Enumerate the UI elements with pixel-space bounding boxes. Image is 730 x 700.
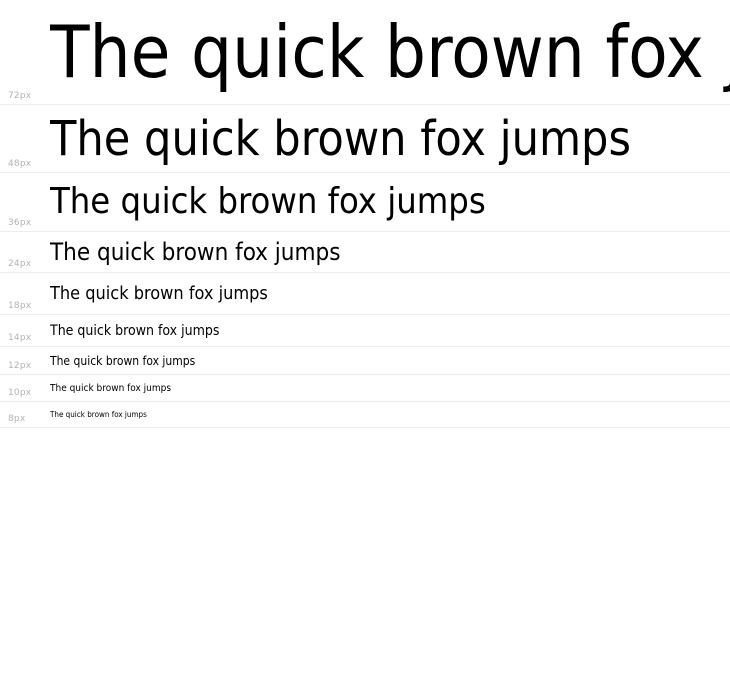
font-size-specimen: 72px The quick brown fox jumps 48px The … bbox=[0, 0, 730, 700]
specimen-row-10px: 10px The quick brown fox jumps bbox=[0, 375, 730, 402]
size-label-8px: 8px bbox=[8, 415, 25, 424]
empty-area bbox=[0, 428, 730, 690]
specimen-row-24px: 24px The quick brown fox jumps bbox=[0, 232, 730, 273]
sample-text-8px: The quick brown fox jumps bbox=[50, 402, 730, 428]
size-label-48px: 48px bbox=[8, 160, 31, 169]
sample-text-10px: The quick brown fox jumps bbox=[50, 375, 730, 402]
sample-text-72px: The quick brown fox jumps bbox=[50, 0, 730, 104]
specimen-row-12px: 12px The quick brown fox jumps bbox=[0, 347, 730, 375]
size-label-14px: 14px bbox=[8, 334, 31, 343]
sample-text-18px: The quick brown fox jumps bbox=[50, 273, 730, 315]
specimen-row-14px: 14px The quick brown fox jumps bbox=[0, 315, 730, 347]
sample-text-24px: The quick brown fox jumps bbox=[50, 232, 730, 273]
specimen-row-72px: 72px The quick brown fox jumps bbox=[0, 0, 730, 105]
size-label-10px: 10px bbox=[8, 389, 31, 398]
sample-text-12px: The quick brown fox jumps bbox=[50, 347, 730, 375]
size-label-36px: 36px bbox=[8, 219, 31, 228]
size-label-24px: 24px bbox=[8, 260, 31, 269]
sample-text-14px: The quick brown fox jumps bbox=[50, 315, 730, 347]
specimen-row-18px: 18px The quick brown fox jumps bbox=[0, 273, 730, 315]
size-label-18px: 18px bbox=[8, 302, 31, 311]
specimen-row-48px: 48px The quick brown fox jumps bbox=[0, 105, 730, 173]
size-label-72px: 72px bbox=[8, 92, 31, 101]
specimen-row-8px: 8px The quick brown fox jumps bbox=[0, 402, 730, 428]
size-label-12px: 12px bbox=[8, 362, 31, 371]
sample-text-36px: The quick brown fox jumps bbox=[50, 173, 730, 231]
specimen-row-36px: 36px The quick brown fox jumps bbox=[0, 173, 730, 232]
sample-text-48px: The quick brown fox jumps bbox=[50, 105, 730, 173]
